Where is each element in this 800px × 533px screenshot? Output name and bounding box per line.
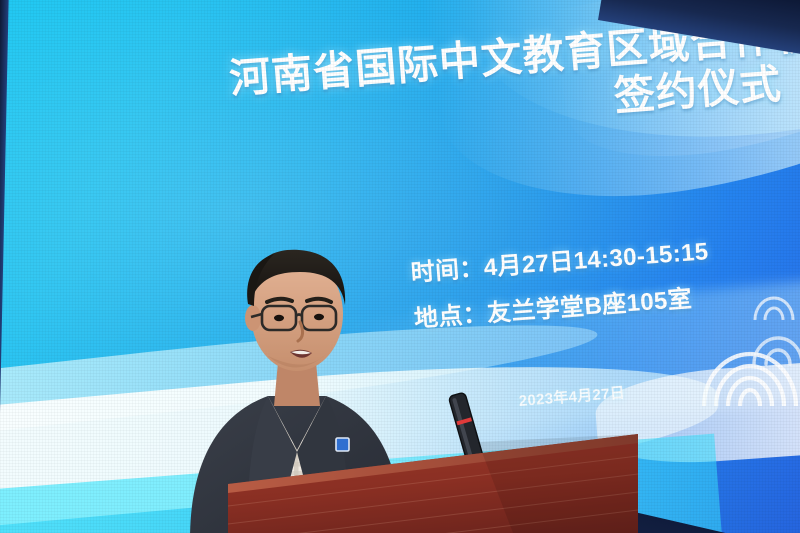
podium [228, 432, 638, 533]
screenshot-root: 河南省国际中文教育区域合作机制 签约仪式 时间：4月27日14:30-15:15… [0, 0, 800, 533]
speaker-ear [245, 305, 261, 331]
